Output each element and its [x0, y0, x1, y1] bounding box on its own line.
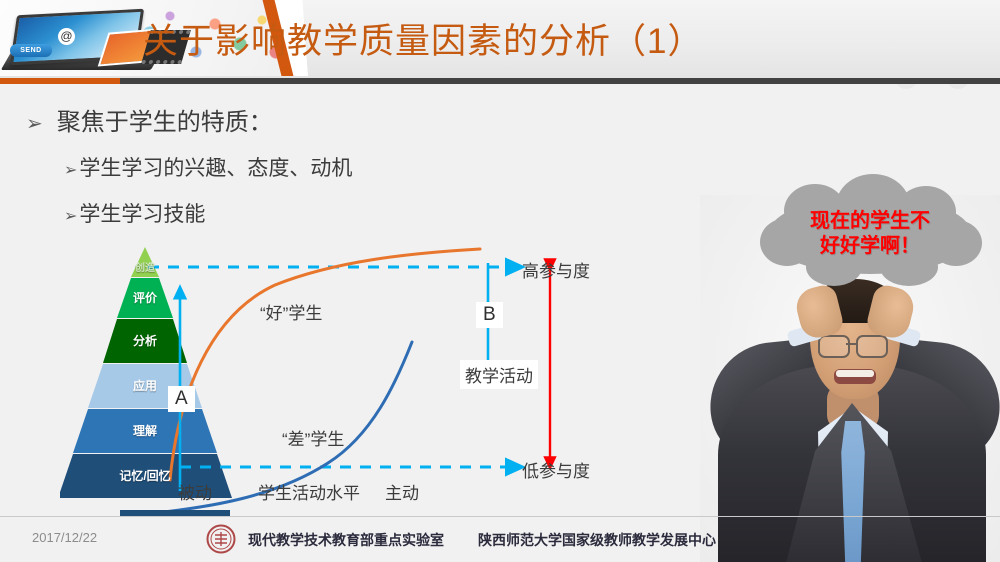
teaching-activity-label: 教学活动 — [460, 360, 538, 389]
header-divider-accent — [0, 78, 120, 84]
pyramid-level-1: 创造 — [122, 259, 168, 274]
pyramid-shape — [60, 247, 232, 498]
speech-bubble: 现在的学生不 好好学啊！ — [770, 196, 970, 274]
speech-bubble-text: 现在的学生不 好好学啊！ — [770, 209, 970, 259]
footer-date: 2017/12/22 — [32, 530, 97, 545]
footer-divider — [0, 516, 1000, 517]
footer-center-name: 陕西师范大学国家级教师教学发展中心 — [478, 530, 716, 550]
low-engagement-label: 低参与度 — [522, 457, 590, 482]
glasses-left-lens-icon — [818, 335, 850, 358]
good-student-label: “好”学生 — [260, 299, 322, 324]
x-axis-label: 学生活动水平 — [258, 479, 360, 504]
header-divider — [0, 78, 1000, 84]
speech-line-1: 现在的学生不 — [770, 209, 970, 234]
footer-lab-name: 现代教学技术教育部重点实验室 — [248, 530, 444, 550]
bullet-level2-2-text: 学生学习技能 — [79, 203, 205, 226]
at-sign-icon: @ — [58, 28, 75, 45]
bullet-level1: ➢聚焦于学生的特质： — [26, 102, 273, 137]
speech-line-2: 好好学啊！ — [770, 234, 970, 259]
bullet-level2-2: ➢学生学习技能 — [64, 198, 205, 228]
slide-canvas: @ SEND 关于影响教学质量因素的分析（1） ➢聚焦于学生的特质： ➢学生学习… — [0, 0, 1000, 562]
x-axis-tick-passive: 被动 — [178, 479, 212, 504]
bullet-level1-text: 聚焦于学生的特质： — [57, 109, 273, 136]
arrow-b-label: B — [476, 302, 503, 328]
bullet-arrow-icon: ➢ — [64, 208, 77, 225]
high-engagement-label: 高参与度 — [522, 257, 590, 282]
glasses-right-lens-icon — [856, 335, 888, 358]
pyramid-level-4: 应用 — [120, 377, 170, 394]
glasses-bridge-icon — [846, 343, 856, 345]
bullet-level2-1: ➢学生学习的兴趣、态度、动机 — [64, 152, 352, 182]
pyramid-level-6: 记忆/回忆 — [102, 467, 188, 484]
engagement-chart: 创造 评价 分析 应用 理解 记忆/回忆 “好”学生 “差”学生 A B 教学活… — [60, 245, 700, 510]
send-badge: SEND — [10, 44, 52, 57]
pyramid-level-3: 分析 — [120, 332, 170, 349]
x-axis-tick-active: 主动 — [385, 479, 419, 504]
bullet-level2-1-text: 学生学习的兴趣、态度、动机 — [79, 157, 352, 180]
page-title: 关于影响教学质量因素的分析（1） — [143, 13, 703, 64]
arrow-a-label: A — [168, 386, 195, 412]
teeth — [836, 370, 874, 377]
pyramid-level-5: 理解 — [120, 422, 170, 439]
slide-header: @ SEND 关于影响教学质量因素的分析（1） — [0, 0, 1000, 78]
bullet-arrow-icon: ➢ — [26, 113, 43, 135]
pyramid-level-2: 评价 — [120, 289, 170, 306]
university-seal-icon — [206, 524, 236, 554]
bullet-arrow-icon: ➢ — [64, 162, 77, 179]
poor-student-label: “差”学生 — [282, 425, 344, 450]
